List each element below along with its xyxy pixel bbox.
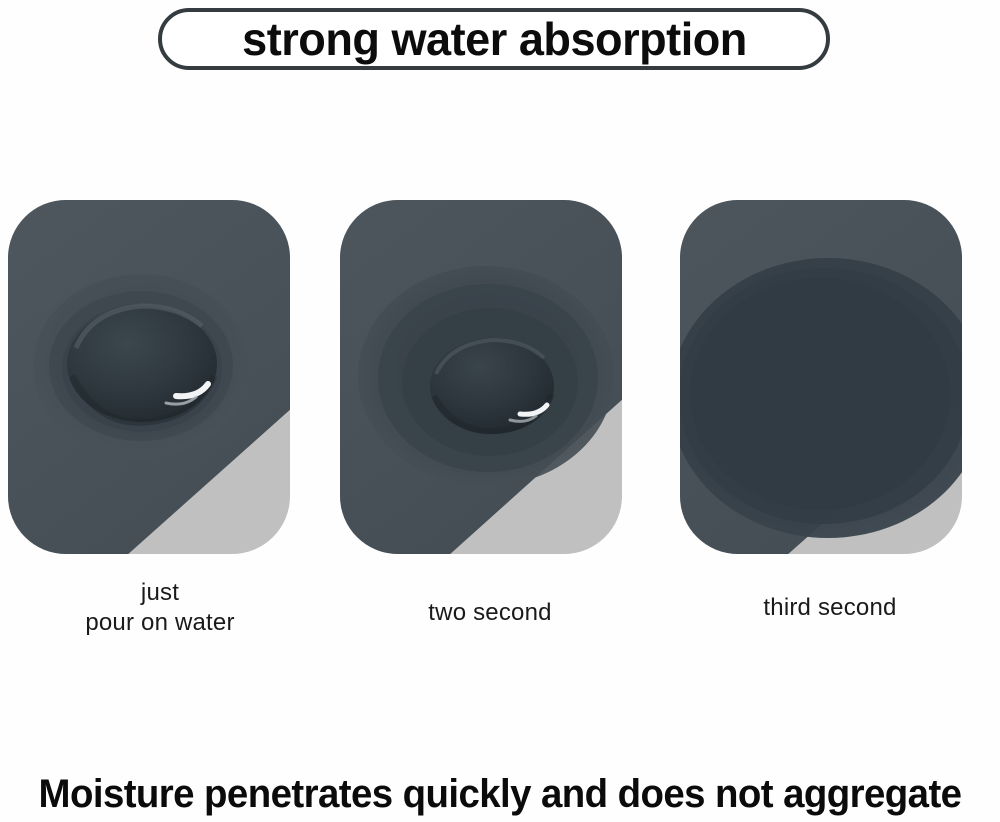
stage-1-tile (6, 198, 292, 556)
footer-tagline: Moisture penetrates quickly and does not… (20, 770, 980, 818)
stage-1-caption: just pour on water (20, 578, 300, 638)
title-banner: strong water absorption (158, 8, 830, 70)
stage-3-caption: third second (690, 593, 970, 623)
page-title: strong water absorption (242, 16, 747, 62)
stage-2-caption: two second (350, 598, 630, 628)
absorption-stage-row (0, 198, 1000, 558)
mat-illustration-stage-1 (6, 198, 292, 556)
stage-3-tile (678, 198, 964, 556)
mat-illustration-stage-2 (338, 198, 624, 556)
mat-illustration-stage-3 (678, 198, 964, 556)
stage-2-tile (338, 198, 624, 556)
